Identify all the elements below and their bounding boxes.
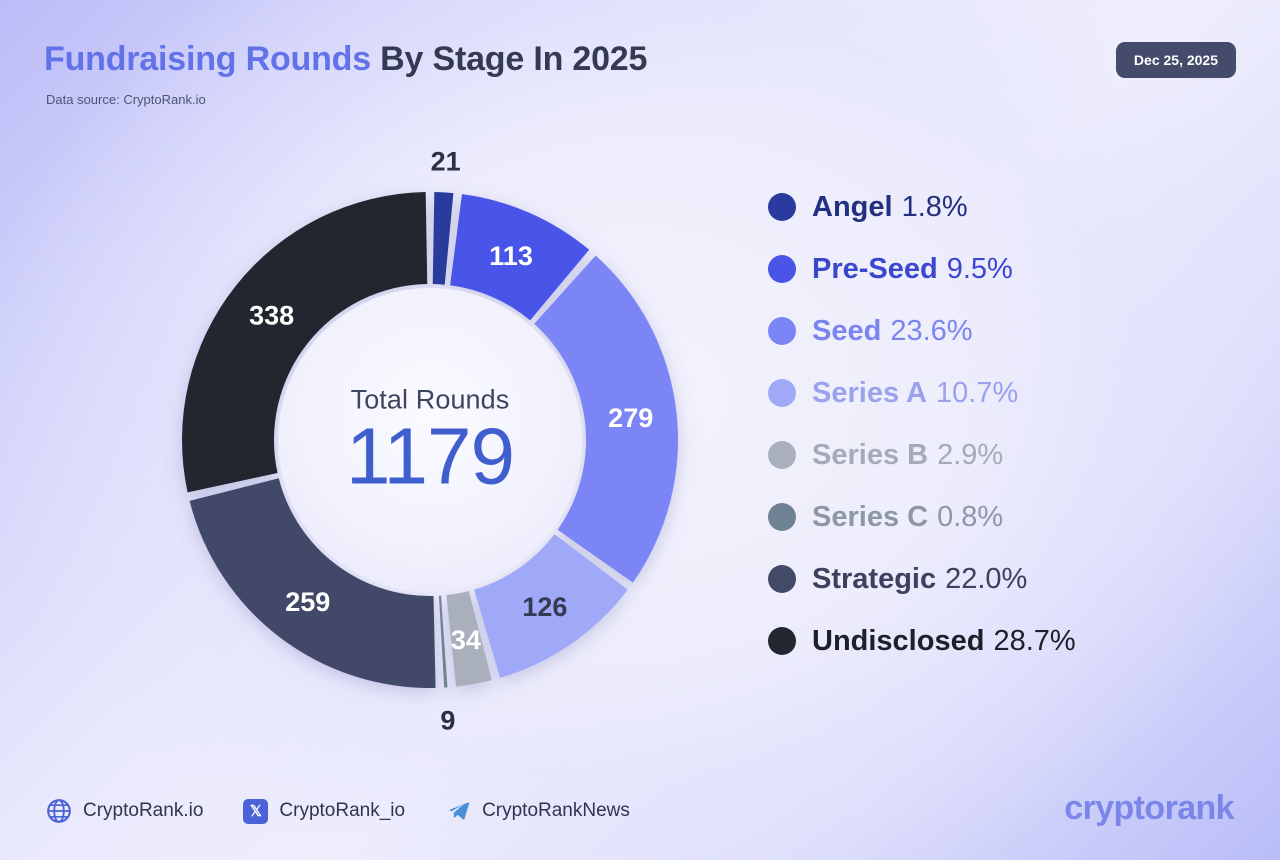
legend-item-series-c[interactable]: Series C0.8% (768, 486, 1228, 548)
legend-item-label: Undisclosed (812, 625, 984, 658)
donut-chart-svg: 21113279126349259338 (110, 120, 750, 760)
slice-value-label-pre-seed: 113 (489, 241, 533, 271)
legend-item-label: Series C (812, 501, 928, 534)
legend-item-label: Series B (812, 439, 928, 472)
footer-link-website-label: CryptoRank.io (83, 800, 203, 822)
slice-value-label-angel: 21 (431, 146, 461, 176)
legend-color-dot (768, 627, 796, 655)
slice-value-label-series-b: 34 (451, 625, 481, 655)
telegram-icon (445, 798, 471, 824)
title-plain: By Stage In 2025 (371, 40, 647, 78)
date-badge: Dec 25, 2025 (1116, 42, 1236, 78)
legend-item-percentage: 2.9% (937, 439, 1003, 472)
slice-value-label-series-c: 9 (440, 705, 455, 735)
footer-link-telegram-label: CryptoRankNews (482, 800, 630, 822)
legend-item-percentage: 28.7% (993, 625, 1075, 658)
legend-item-percentage: 9.5% (947, 253, 1013, 286)
legend-color-dot (768, 379, 796, 407)
footer-link-twitter-label: CryptoRank_io (279, 800, 405, 822)
footer-link-telegram[interactable]: CryptoRankNews (445, 798, 630, 824)
slice-value-label-strategic: 259 (285, 587, 330, 617)
legend-color-dot (768, 503, 796, 531)
legend-item-series-b[interactable]: Series B2.9% (768, 424, 1228, 486)
slice-value-label-series-a: 126 (522, 592, 567, 622)
legend-item-label: Series A (812, 377, 927, 410)
data-source-subtitle: Data source: CryptoRank.io (46, 92, 206, 107)
legend-item-seed[interactable]: Seed23.6% (768, 300, 1228, 362)
legend-item-undisclosed[interactable]: Undisclosed28.7% (768, 610, 1228, 672)
title-accent: Fundraising Rounds (44, 40, 371, 78)
footer-link-website[interactable]: CryptoRank.io (46, 798, 203, 824)
footer-link-twitter[interactable]: 𝕏 CryptoRank_io (243, 799, 405, 824)
legend-item-percentage: 23.6% (890, 315, 972, 348)
legend-item-pre-seed[interactable]: Pre-Seed9.5% (768, 238, 1228, 300)
slice-value-label-undisclosed: 338 (249, 301, 294, 331)
legend-color-dot (768, 255, 796, 283)
legend-item-percentage: 1.8% (902, 191, 968, 224)
legend-color-dot (768, 565, 796, 593)
legend-item-percentage: 0.8% (937, 501, 1003, 534)
x-icon: 𝕏 (243, 799, 268, 824)
chart-legend: Angel1.8%Pre-Seed9.5%Seed23.6%Series A10… (768, 176, 1228, 672)
legend-color-dot (768, 193, 796, 221)
page-title: Fundraising Rounds By Stage In 2025 (44, 40, 647, 79)
infographic-canvas: Fundraising Rounds By Stage In 2025 Data… (0, 0, 1280, 860)
legend-color-dot (768, 317, 796, 345)
donut-slice-angel[interactable] (433, 192, 454, 285)
legend-item-label: Strategic (812, 563, 936, 596)
legend-color-dot (768, 441, 796, 469)
legend-item-label: Angel (812, 191, 893, 224)
donut-slice-series-c[interactable] (439, 596, 448, 688)
legend-item-percentage: 22.0% (945, 563, 1027, 596)
legend-item-label: Seed (812, 315, 881, 348)
globe-icon (46, 798, 72, 824)
legend-item-label: Pre-Seed (812, 253, 938, 286)
legend-item-angel[interactable]: Angel1.8% (768, 176, 1228, 238)
donut-chart: 21113279126349259338 Total Rounds 1179 (110, 120, 750, 760)
legend-item-strategic[interactable]: Strategic22.0% (768, 548, 1228, 610)
footer-social-links: CryptoRank.io 𝕏 CryptoRank_io CryptoRank… (46, 798, 630, 824)
cryptorank-logo: cryptorank (1064, 789, 1234, 828)
legend-item-series-a[interactable]: Series A10.7% (768, 362, 1228, 424)
legend-item-percentage: 10.7% (936, 377, 1018, 410)
donut-hole (278, 288, 582, 592)
slice-value-label-seed: 279 (608, 403, 653, 433)
